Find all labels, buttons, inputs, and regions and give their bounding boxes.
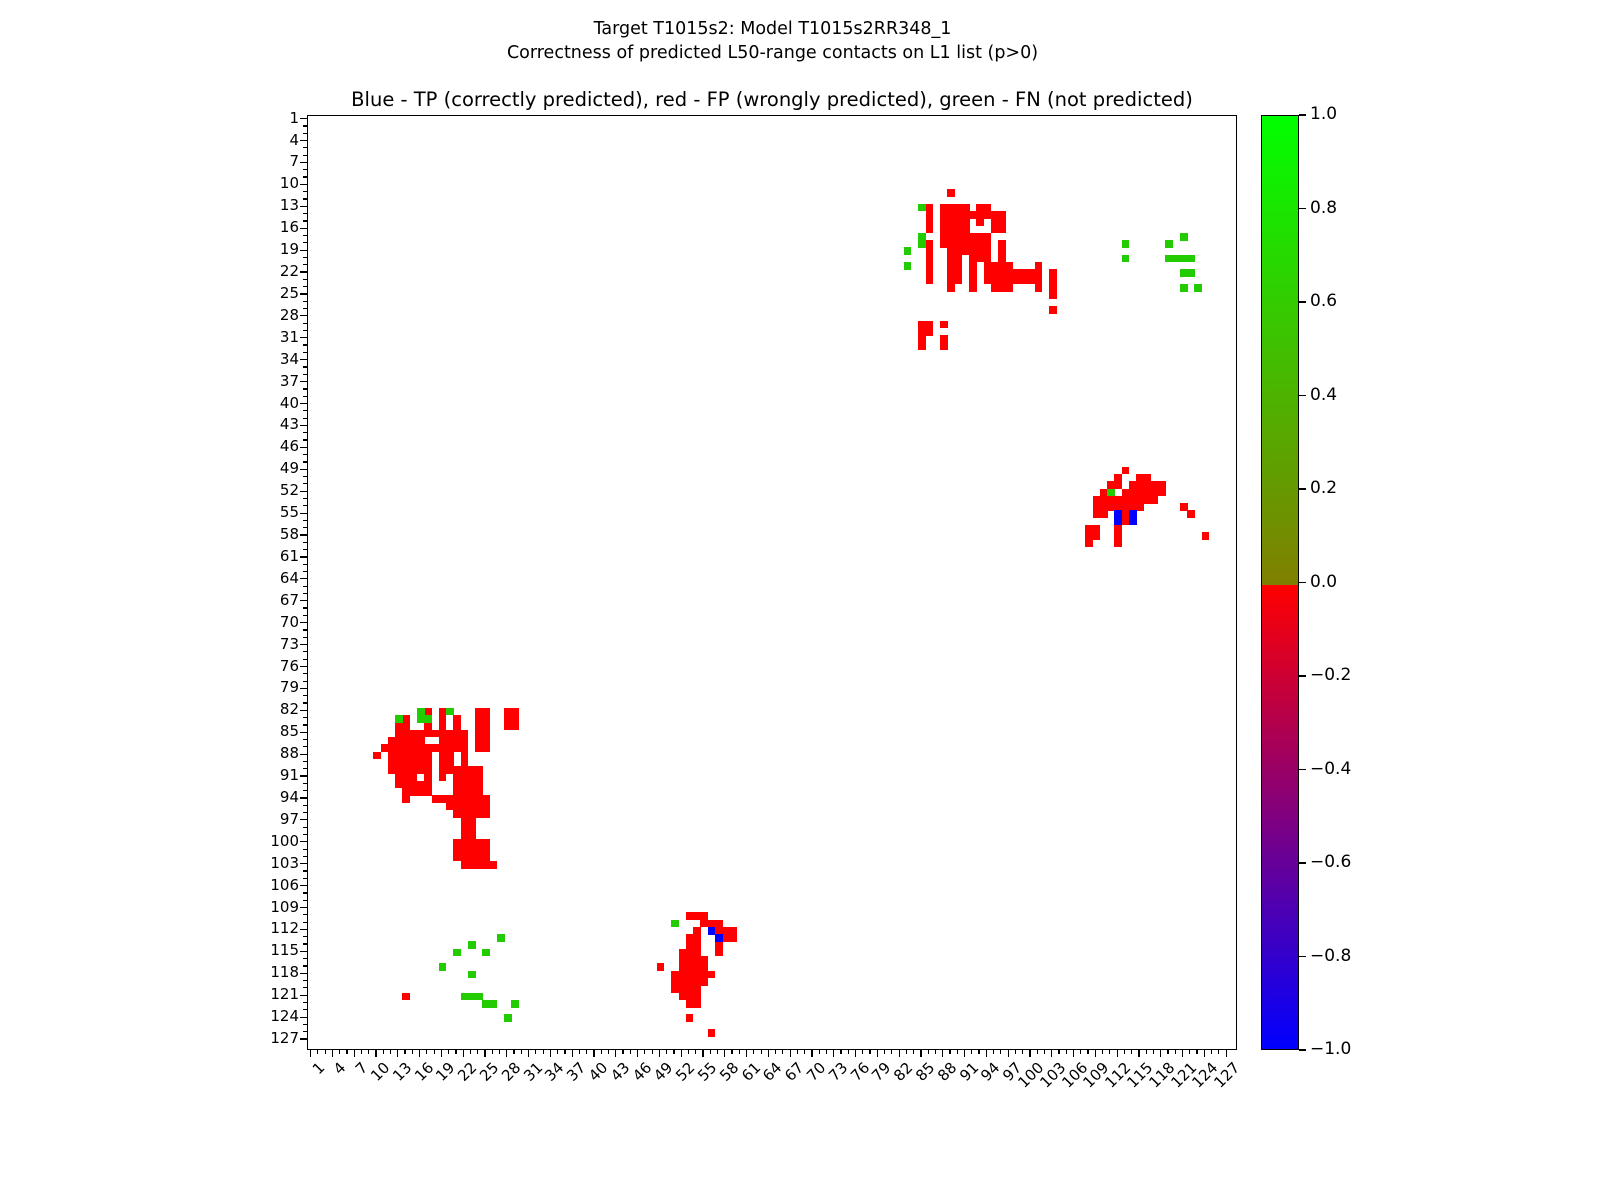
y-tick-major: [300, 250, 307, 251]
x-tick-minor: [957, 1050, 958, 1054]
contact-cell-fp: [1151, 496, 1159, 504]
y-tick-minor: [303, 629, 307, 630]
contact-cell-tp: [1129, 518, 1137, 526]
contact-cell-fn: [504, 1014, 512, 1022]
y-tick-minor: [303, 607, 307, 608]
y-tick-minor: [303, 483, 307, 484]
colorbar-lower-gradient: [1261, 585, 1299, 1051]
contact-cell-fn: [904, 247, 912, 255]
y-tick-minor: [303, 717, 307, 718]
contact-cell-fp: [926, 328, 934, 336]
y-tick-minor: [303, 155, 307, 156]
x-tick-major: [986, 1050, 987, 1057]
y-tick-major: [300, 732, 307, 733]
y-tick-minor: [303, 279, 307, 280]
contact-cell-fn: [1165, 240, 1173, 248]
colorbar-tick-label: −1.0: [1310, 1041, 1351, 1058]
y-tick-major: [300, 863, 307, 864]
colorbar-tick: [1299, 395, 1306, 396]
x-tick-minor: [1189, 1050, 1190, 1054]
y-tick-major: [300, 754, 307, 755]
y-tick-minor: [303, 133, 307, 134]
y-tick-minor: [303, 257, 307, 258]
contact-cell-fp: [1049, 291, 1057, 299]
contact-cell-fp: [1093, 532, 1101, 540]
contact-cell-fp: [1187, 510, 1195, 518]
contact-cell-fp: [439, 773, 447, 781]
y-axis-tick-label: 88: [280, 746, 299, 761]
x-tick-minor: [1218, 1050, 1219, 1054]
y-tick-minor: [303, 571, 307, 572]
contact-cell-fn: [918, 240, 926, 248]
x-tick-minor: [470, 1050, 471, 1054]
x-tick-major: [1095, 1050, 1096, 1057]
y-tick-major: [300, 775, 307, 776]
colorbar-tick: [1299, 208, 1306, 209]
x-tick-minor: [731, 1050, 732, 1054]
y-tick-minor: [303, 593, 307, 594]
x-tick-major: [463, 1050, 464, 1057]
x-tick-major: [1117, 1050, 1118, 1057]
y-axis-tick-label: 13: [280, 198, 299, 213]
contact-cell-fn: [1122, 240, 1130, 248]
y-axis-tick-label: 16: [280, 220, 299, 235]
colorbar-tick-label: −0.6: [1310, 854, 1351, 871]
colorbar-tick-label: 0.6: [1310, 293, 1337, 310]
y-tick-minor: [303, 783, 307, 784]
x-tick-minor: [819, 1050, 820, 1054]
y-tick-minor: [303, 856, 307, 857]
contact-cell-fn: [1122, 255, 1130, 263]
x-tick-minor: [775, 1050, 776, 1054]
y-tick-minor: [303, 374, 307, 375]
y-tick-minor: [303, 695, 307, 696]
contact-cell-fn: [904, 262, 912, 270]
y-tick-minor: [303, 965, 307, 966]
x-tick-major: [899, 1050, 900, 1057]
contact-cell-fn: [918, 204, 926, 212]
y-tick-major: [300, 1038, 307, 1039]
title-line-2: Correctness of predicted L50-range conta…: [0, 42, 1545, 66]
x-tick-minor: [1058, 1050, 1059, 1054]
y-tick-minor: [303, 987, 307, 988]
x-tick-minor: [1124, 1050, 1125, 1054]
y-tick-minor: [303, 125, 307, 126]
contact-cell-fn: [468, 971, 476, 979]
y-tick-minor: [303, 198, 307, 199]
x-tick-major: [1226, 1050, 1227, 1057]
contact-cell-fp: [715, 949, 723, 957]
y-tick-minor: [303, 396, 307, 397]
contact-cell-fp: [1006, 284, 1014, 292]
contact-cell-fn: [490, 1000, 498, 1008]
y-tick-major: [300, 140, 307, 141]
y-tick-minor: [303, 542, 307, 543]
x-tick-minor: [739, 1050, 740, 1054]
x-tick-major: [768, 1050, 769, 1057]
x-tick-minor: [717, 1050, 718, 1054]
y-axis-tick-label: 10: [280, 176, 299, 191]
x-tick-major: [833, 1050, 834, 1057]
y-tick-major: [300, 644, 307, 645]
y-axis-tick-label: 91: [280, 768, 299, 783]
contact-cell-fp: [1100, 510, 1108, 518]
y-tick-major: [300, 556, 307, 557]
figure-title: Target T1015s2: Model T1015s2RR348_1 Cor…: [0, 18, 1545, 65]
contact-cell-fp: [926, 277, 934, 285]
y-axis-tick-label: 43: [280, 417, 299, 432]
contact-cell-tp: [715, 934, 723, 942]
x-tick-minor: [622, 1050, 623, 1054]
y-axis-tick-label: 52: [280, 483, 299, 498]
x-tick-minor: [1153, 1050, 1154, 1054]
y-tick-major: [300, 995, 307, 996]
y-tick-minor: [303, 746, 307, 747]
contact-cell-fp: [976, 218, 984, 226]
x-tick-major: [1182, 1050, 1183, 1057]
contact-cell-fp: [708, 1029, 716, 1037]
x-tick-minor: [1102, 1050, 1103, 1054]
x-tick-major: [964, 1050, 965, 1057]
colorbar-tick-label: 0.4: [1310, 387, 1337, 404]
y-tick-major: [300, 271, 307, 272]
y-tick-minor: [303, 439, 307, 440]
y-tick-major: [300, 118, 307, 119]
contact-cell-fn: [439, 963, 447, 971]
y-tick-major: [300, 162, 307, 163]
colorbar-tick: [1299, 956, 1306, 957]
y-axis-tick-label: 97: [280, 812, 299, 827]
contact-map-plot[interactable]: [307, 115, 1237, 1050]
x-tick-major: [877, 1050, 878, 1057]
x-tick-major: [637, 1050, 638, 1057]
x-tick-minor: [564, 1050, 565, 1054]
contact-cell-fp: [657, 963, 665, 971]
x-tick-major: [1051, 1050, 1052, 1057]
y-tick-minor: [303, 242, 307, 243]
x-tick-minor: [1015, 1050, 1016, 1054]
y-tick-major: [300, 622, 307, 623]
contact-cell-fp: [940, 342, 948, 350]
colorbar-tick: [1299, 675, 1306, 676]
y-axis-tick-label: 109: [270, 900, 299, 915]
y-tick-minor: [303, 344, 307, 345]
x-tick-major: [528, 1050, 529, 1057]
contact-cell-fn: [1194, 284, 1202, 292]
x-tick-minor: [971, 1050, 972, 1054]
y-tick-minor: [303, 870, 307, 871]
x-tick-minor: [1037, 1050, 1038, 1054]
y-tick-major: [300, 666, 307, 667]
x-tick-minor: [673, 1050, 674, 1054]
x-tick-major: [681, 1050, 682, 1057]
y-tick-major: [300, 797, 307, 798]
x-tick-major: [811, 1050, 812, 1057]
x-tick-minor: [1211, 1050, 1212, 1054]
y-axis-tick-label: 61: [280, 549, 299, 564]
contact-cell-fn: [446, 708, 454, 716]
y-axis-tick-label: 1: [289, 111, 299, 126]
y-tick-major: [300, 907, 307, 908]
y-tick-minor: [303, 520, 307, 521]
y-tick-major: [300, 513, 307, 514]
y-axis-tick-label: 19: [280, 242, 299, 257]
x-tick-major: [332, 1050, 333, 1057]
y-tick-major: [300, 359, 307, 360]
x-tick-minor: [557, 1050, 558, 1054]
y-axis-tick-label: 4: [289, 133, 299, 148]
x-tick-minor: [404, 1050, 405, 1054]
axes-legend-caption: Blue - TP (correctly predicted), red - F…: [307, 88, 1237, 111]
x-tick-minor: [1000, 1050, 1001, 1054]
contact-cell-fn: [1180, 233, 1188, 241]
y-tick-minor: [303, 958, 307, 959]
y-tick-minor: [303, 286, 307, 287]
y-tick-minor: [303, 812, 307, 813]
x-tick-minor: [1175, 1050, 1176, 1054]
y-tick-minor: [303, 498, 307, 499]
x-tick-minor: [891, 1050, 892, 1054]
x-tick-minor: [710, 1050, 711, 1054]
x-tick-minor: [848, 1050, 849, 1054]
contact-cell-fp: [940, 321, 948, 329]
x-tick-minor: [521, 1050, 522, 1054]
y-tick-minor: [303, 834, 307, 835]
y-axis-tick-label: 22: [280, 264, 299, 279]
y-tick-minor: [303, 790, 307, 791]
y-axis-tick-label: 55: [280, 505, 299, 520]
x-tick-major: [615, 1050, 616, 1057]
y-axis-tick-label: 100: [270, 834, 299, 849]
x-tick-major: [550, 1050, 551, 1057]
y-tick-minor: [303, 892, 307, 893]
x-tick-minor: [652, 1050, 653, 1054]
y-tick-minor: [303, 768, 307, 769]
x-tick-major: [746, 1050, 747, 1057]
y-tick-minor: [303, 476, 307, 477]
y-tick-minor: [303, 739, 307, 740]
y-tick-minor: [303, 564, 307, 565]
y-tick-major: [300, 337, 307, 338]
x-tick-major: [484, 1050, 485, 1057]
x-tick-minor: [492, 1050, 493, 1054]
x-tick-major: [397, 1050, 398, 1057]
x-tick-minor: [1196, 1050, 1197, 1054]
colorbar-tick-label: 0.2: [1310, 480, 1337, 497]
y-axis-tick-label: 40: [280, 396, 299, 411]
contact-cell-fp: [998, 226, 1006, 234]
colorbar-tick: [1299, 488, 1306, 489]
y-tick-minor: [303, 673, 307, 674]
y-tick-minor: [303, 1002, 307, 1003]
contact-cell-fp: [373, 752, 381, 760]
y-tick-minor: [303, 878, 307, 879]
x-tick-minor: [978, 1050, 979, 1054]
x-tick-minor: [761, 1050, 762, 1054]
x-tick-minor: [499, 1050, 500, 1054]
colorbar-tick-label: −0.4: [1310, 761, 1351, 778]
y-tick-minor: [303, 615, 307, 616]
y-axis-tick-label: 94: [280, 790, 299, 805]
contact-cell-fn: [453, 949, 461, 957]
x-tick-minor: [935, 1050, 936, 1054]
y-tick-minor: [303, 922, 307, 923]
contact-cell-fp: [947, 284, 955, 292]
contact-cell-fp: [482, 810, 490, 818]
colorbar-tick: [1299, 1049, 1306, 1050]
x-tick-minor: [543, 1050, 544, 1054]
x-tick-major: [855, 1050, 856, 1057]
y-tick-minor: [303, 980, 307, 981]
colorbar-tick: [1299, 301, 1306, 302]
x-tick-minor: [666, 1050, 667, 1054]
x-tick-minor: [913, 1050, 914, 1054]
y-tick-minor: [303, 549, 307, 550]
contact-cell-fn: [468, 941, 476, 949]
x-tick-major: [1008, 1050, 1009, 1057]
x-tick-major: [593, 1050, 594, 1057]
x-tick-major: [1073, 1050, 1074, 1057]
contact-cell-fp: [1035, 284, 1043, 292]
y-tick-major: [300, 381, 307, 382]
contact-cell-fn: [1180, 284, 1188, 292]
y-tick-minor: [303, 702, 307, 703]
y-tick-minor: [303, 191, 307, 192]
y-tick-minor: [303, 586, 307, 587]
y-axis-tick-label: 124: [270, 1009, 299, 1024]
y-axis-tick-label: 85: [280, 724, 299, 739]
contact-cell-fn: [482, 949, 490, 957]
y-axis-tick-label: 64: [280, 571, 299, 586]
y-tick-major: [300, 469, 307, 470]
y-tick-major: [300, 710, 307, 711]
y-axis-tick-label: 79: [280, 680, 299, 695]
contact-cell-fp: [402, 795, 410, 803]
x-tick-major: [1138, 1050, 1139, 1057]
y-tick-minor: [303, 1009, 307, 1010]
x-tick-major: [790, 1050, 791, 1057]
colorbar-tick: [1299, 582, 1306, 583]
x-tick-minor: [1167, 1050, 1168, 1054]
y-tick-minor: [303, 637, 307, 638]
y-tick-minor: [303, 213, 307, 214]
y-tick-minor: [303, 410, 307, 411]
colorbar-tick: [1299, 769, 1306, 770]
x-tick-major: [375, 1050, 376, 1057]
x-tick-major: [441, 1050, 442, 1057]
contact-cell-fp: [490, 861, 498, 869]
contact-cell-fp: [1114, 540, 1122, 548]
colorbar-tick: [1299, 862, 1306, 863]
x-tick-minor: [695, 1050, 696, 1054]
contact-cell-fp: [1202, 532, 1210, 540]
y-tick-major: [300, 973, 307, 974]
y-tick-minor: [303, 220, 307, 221]
x-tick-major: [354, 1050, 355, 1057]
y-axis-tick-label: 127: [270, 1031, 299, 1046]
y-axis-tick-label: 34: [280, 352, 299, 367]
x-tick-minor: [579, 1050, 580, 1054]
y-tick-minor: [303, 169, 307, 170]
x-tick-minor: [804, 1050, 805, 1054]
contact-cell-fp: [947, 189, 955, 197]
contact-cell-fn: [1187, 269, 1195, 277]
y-axis-tick-label: 115: [270, 943, 299, 958]
x-tick-minor: [826, 1050, 827, 1054]
y-tick-minor: [303, 454, 307, 455]
x-tick-minor: [688, 1050, 689, 1054]
x-tick-minor: [1146, 1050, 1147, 1054]
contact-cell-fn: [1187, 255, 1195, 263]
x-tick-major: [942, 1050, 943, 1057]
x-tick-minor: [884, 1050, 885, 1054]
contact-cell-fp: [1085, 540, 1093, 548]
y-axis-tick-label: 67: [280, 593, 299, 608]
colorbar-tick-label: 0.8: [1310, 200, 1337, 217]
x-tick-minor: [906, 1050, 907, 1054]
y-axis-tick-label: 31: [280, 330, 299, 345]
x-tick-minor: [797, 1050, 798, 1054]
contact-cell-fp: [918, 342, 926, 350]
colorbar-tick: [1299, 114, 1306, 115]
y-axis-tick-label: 112: [270, 921, 299, 936]
y-tick-major: [300, 228, 307, 229]
contact-cell-fn: [497, 934, 505, 942]
y-tick-major: [300, 534, 307, 535]
x-tick-minor: [1066, 1050, 1067, 1054]
x-tick-minor: [586, 1050, 587, 1054]
y-tick-minor: [303, 943, 307, 944]
contact-cell-fp: [686, 1014, 694, 1022]
contact-cell-fp: [1049, 306, 1057, 314]
x-tick-minor: [368, 1050, 369, 1054]
x-tick-minor: [1080, 1050, 1081, 1054]
x-tick-major: [702, 1050, 703, 1057]
y-tick-minor: [303, 352, 307, 353]
contact-cell-fp: [969, 284, 977, 292]
y-tick-minor: [303, 849, 307, 850]
x-tick-minor: [455, 1050, 456, 1054]
contact-cell-fp: [1158, 489, 1166, 497]
contact-cell-fp: [926, 226, 934, 234]
x-tick-minor: [993, 1050, 994, 1054]
y-tick-minor: [303, 1024, 307, 1025]
y-tick-minor: [303, 308, 307, 309]
x-tick-minor: [412, 1050, 413, 1054]
y-axis-tick-label: 82: [280, 702, 299, 717]
x-tick-minor: [753, 1050, 754, 1054]
x-tick-minor: [608, 1050, 609, 1054]
y-tick-minor: [303, 323, 307, 324]
y-tick-major: [300, 206, 307, 207]
y-tick-major: [300, 315, 307, 316]
y-tick-minor: [303, 176, 307, 177]
contact-cell-fn: [395, 715, 403, 723]
x-tick-major: [920, 1050, 921, 1057]
y-tick-major: [300, 951, 307, 952]
contact-cell-fp: [729, 934, 737, 942]
contact-cell-fp: [700, 978, 708, 986]
y-tick-minor: [303, 914, 307, 915]
y-axis-tick-label: 118: [270, 965, 299, 980]
y-tick-minor: [303, 461, 307, 462]
x-tick-minor: [535, 1050, 536, 1054]
y-tick-major: [300, 425, 307, 426]
x-tick-minor: [928, 1050, 929, 1054]
x-tick-major: [506, 1050, 507, 1057]
y-tick-major: [300, 885, 307, 886]
x-tick-minor: [782, 1050, 783, 1054]
